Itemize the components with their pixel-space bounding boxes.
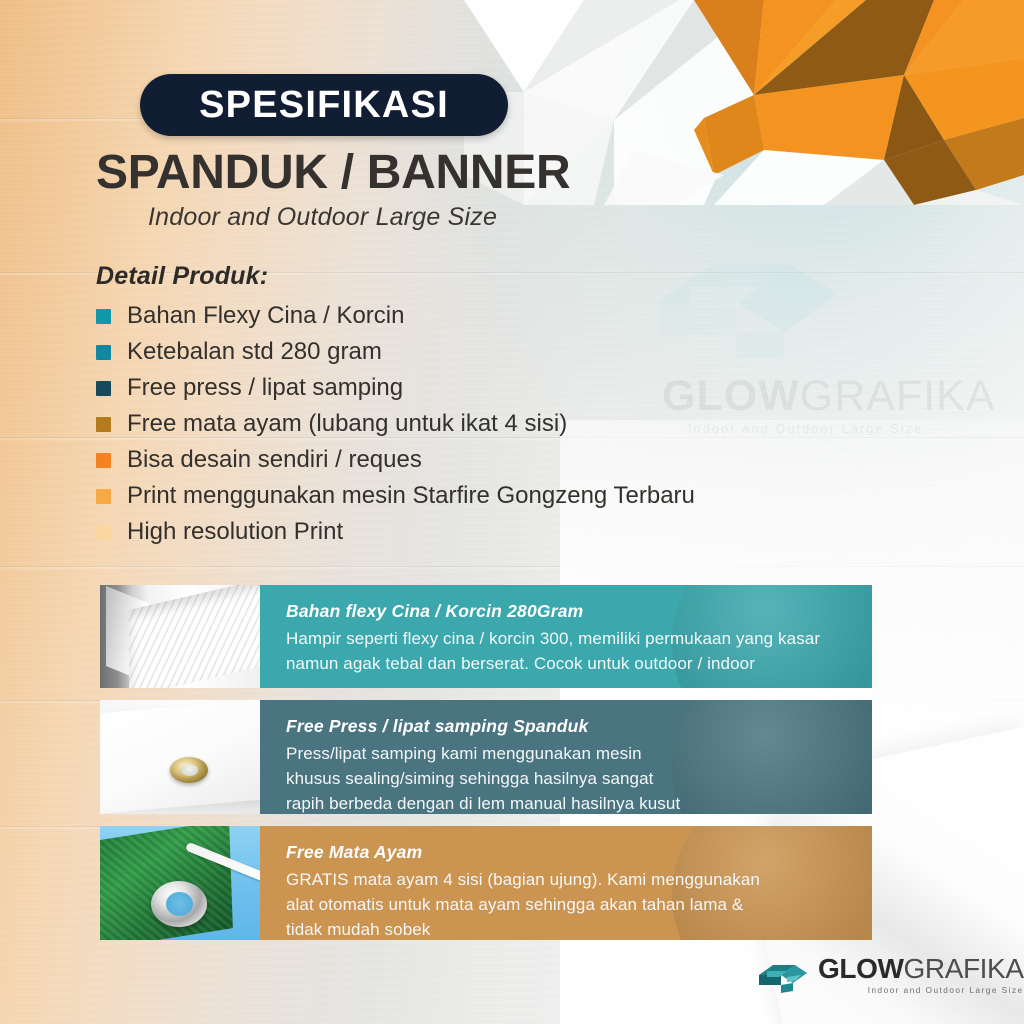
- page-title: SPANDUK / BANNER: [96, 148, 570, 198]
- glowgrafika-logo-icon: [757, 955, 809, 995]
- feature-card-line: Hampir seperti flexy cina / korcin 300, …: [286, 626, 852, 651]
- feature-thumbnail-flexy-roll: [100, 585, 260, 688]
- bullet-square-icon: [96, 525, 111, 540]
- bullet-square-icon: [96, 417, 111, 432]
- bullet-square-icon: [96, 345, 111, 360]
- feature-card: Free Press / lipat samping Spanduk Press…: [100, 700, 872, 814]
- logo-text: GLOWGRAFIKA Indoor and Outdoor Large Siz…: [818, 955, 1024, 995]
- spesifikasi-badge: SPESIFIKASI: [140, 74, 508, 136]
- brand-logo: GLOWGRAFIKA Indoor and Outdoor Large Siz…: [757, 955, 1024, 995]
- list-item-label: Bisa desain sendiri / reques: [127, 448, 422, 472]
- feature-card-body: Bahan flexy Cina / Korcin 280Gram Hampir…: [260, 585, 872, 688]
- feature-card-line: tidak mudah sobek: [286, 917, 852, 940]
- list-item-label: Print menggunakan mesin Starfire Gongzen…: [127, 484, 695, 508]
- feature-card-line: alat otomatis untuk mata ayam sehingga a…: [286, 892, 852, 917]
- logo-glow: GLOW: [818, 953, 904, 984]
- feature-card-body: Free Press / lipat samping Spanduk Press…: [260, 700, 872, 814]
- detail-heading: Detail Produk:: [96, 262, 268, 291]
- feature-card-title: Free Mata Ayam: [286, 842, 852, 863]
- feature-card-body: Free Mata Ayam GRATIS mata ayam 4 sisi (…: [260, 826, 872, 940]
- bullet-square-icon: [96, 489, 111, 504]
- list-item: Bahan Flexy Cina / Korcin: [96, 298, 926, 334]
- detail-list: Bahan Flexy Cina / Korcin Ketebalan std …: [96, 298, 926, 550]
- bullet-square-icon: [96, 381, 111, 396]
- feature-card-line: khusus sealing/siming sehingga hasilnya …: [286, 766, 852, 791]
- list-item-label: Bahan Flexy Cina / Korcin: [127, 304, 404, 328]
- list-item: Bisa desain sendiri / reques: [96, 442, 926, 478]
- list-item-label: Ketebalan std 280 gram: [127, 340, 382, 364]
- logo-grafika: GRAFIKA: [904, 953, 1024, 984]
- feature-card-line: GRATIS mata ayam 4 sisi (bagian ujung). …: [286, 867, 852, 892]
- list-item-label: Free mata ayam (lubang untuk ikat 4 sisi…: [127, 412, 567, 436]
- bullet-square-icon: [96, 453, 111, 468]
- poster-canvas: SPESIFIKASI SPANDUK / BANNER Indoor and …: [0, 0, 1024, 1024]
- feature-card-title: Bahan flexy Cina / Korcin 280Gram: [286, 601, 852, 622]
- list-item: Print menggunakan mesin Starfire Gongzen…: [96, 478, 926, 514]
- feature-card-list: Bahan flexy Cina / Korcin 280Gram Hampir…: [100, 585, 872, 952]
- page-subtitle: Indoor and Outdoor Large Size: [148, 203, 497, 232]
- feature-card-title: Free Press / lipat samping Spanduk: [286, 716, 852, 737]
- feature-card: Free Mata Ayam GRATIS mata ayam 4 sisi (…: [100, 826, 872, 940]
- feature-card-line: Press/lipat samping kami menggunakan mes…: [286, 741, 852, 766]
- feature-thumbnail-green-eyelet: [100, 826, 260, 940]
- bullet-square-icon: [96, 309, 111, 324]
- list-item: High resolution Print: [96, 514, 926, 550]
- feature-card-description: Hampir seperti flexy cina / korcin 300, …: [286, 626, 852, 676]
- feature-card-line: namun agak tebal dan berserat. Cocok unt…: [286, 651, 852, 676]
- list-item: Ketebalan std 280 gram: [96, 334, 926, 370]
- logo-wordmark: GLOWGRAFIKA: [818, 955, 1024, 983]
- list-item: Free mata ayam (lubang untuk ikat 4 sisi…: [96, 406, 926, 442]
- feature-card-description: GRATIS mata ayam 4 sisi (bagian ujung). …: [286, 867, 852, 940]
- list-item-label: Free press / lipat samping: [127, 376, 403, 400]
- feature-card: Bahan flexy Cina / Korcin 280Gram Hampir…: [100, 585, 872, 688]
- badge-label: SPESIFIKASI: [199, 86, 449, 124]
- list-item: Free press / lipat samping: [96, 370, 926, 406]
- logo-tagline: Indoor and Outdoor Large Size: [818, 987, 1024, 995]
- feature-card-line: rapih berbeda dengan di lem manual hasil…: [286, 791, 852, 814]
- list-item-label: High resolution Print: [127, 520, 343, 544]
- feature-thumbnail-white-banner: [100, 700, 260, 814]
- feature-card-description: Press/lipat samping kami menggunakan mes…: [286, 741, 852, 814]
